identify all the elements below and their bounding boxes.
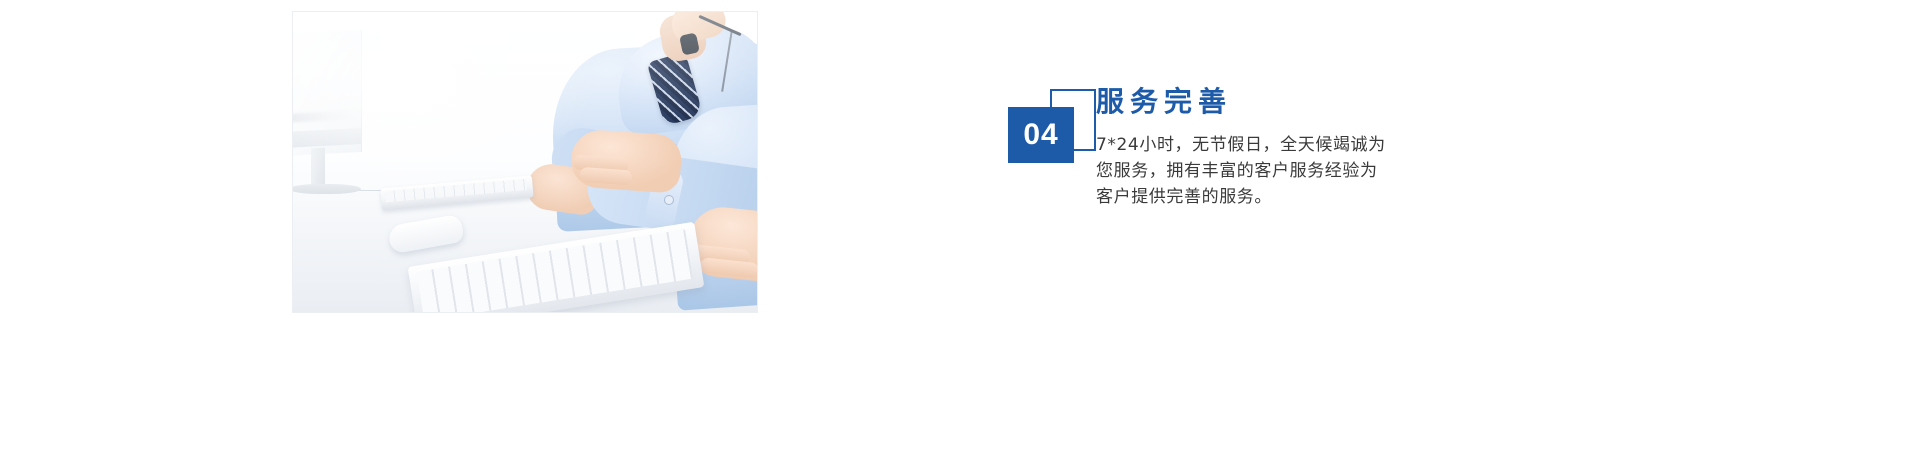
feature-text-column: 服务完善 7*24小时，无节假日，全天候竭诚为 您服务，拥有丰富的客户服务经验为… bbox=[1096, 86, 1496, 210]
description-line-3: 客户提供完善的服务。 bbox=[1096, 184, 1488, 210]
description-line-2: 您服务，拥有丰富的客户服务经验为 bbox=[1096, 158, 1488, 184]
feature-heading: 服务完善 bbox=[1096, 86, 1496, 118]
page-root: 04 服务完善 7*24小时，无节假日，全天候竭诚为 您服务，拥有丰富的客户服务… bbox=[0, 0, 1920, 452]
step-badge: 04 bbox=[1008, 103, 1088, 165]
cuff-button bbox=[665, 196, 673, 204]
monitor-stand-base bbox=[293, 184, 361, 194]
badge-number: 04 bbox=[1023, 120, 1058, 150]
badge-filled-square: 04 bbox=[1008, 107, 1074, 163]
feature-photo bbox=[293, 12, 757, 312]
description-line-1: 7*24小时，无节假日，全天候竭诚为 bbox=[1096, 132, 1488, 158]
finger bbox=[579, 167, 632, 186]
front-agent-hand-on-mouse bbox=[569, 128, 683, 194]
feature-description: 7*24小时，无节假日，全天候竭诚为 您服务，拥有丰富的客户服务经验为 客户提供… bbox=[1096, 132, 1488, 210]
photo-canvas bbox=[293, 12, 757, 312]
